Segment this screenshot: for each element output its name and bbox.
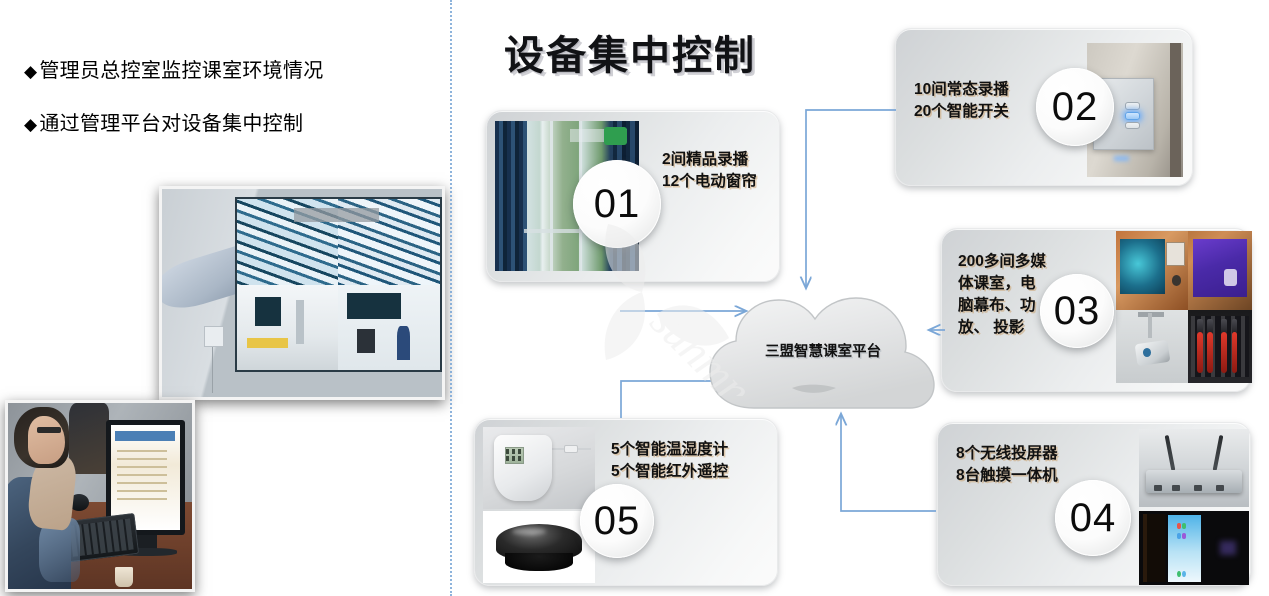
multimedia-classroom-equipment-photos bbox=[1116, 231, 1252, 383]
amplifier-cables-photo bbox=[1188, 310, 1252, 383]
card-01-label: 2间精品录播 12个电动窗帘 bbox=[662, 149, 757, 193]
card-04-number-badge: 04 bbox=[1055, 480, 1131, 556]
card-02-label: 10间常态录播 20个智能开关 bbox=[914, 79, 1009, 123]
card-01-number-badge: 01 bbox=[573, 160, 661, 248]
card-04-label: 8个无线投屏器 8台触摸一体机 bbox=[956, 443, 1058, 487]
antenna-right bbox=[1213, 435, 1224, 471]
projection-screen-photo bbox=[1188, 231, 1252, 310]
card-03-number-badge: 03 bbox=[1040, 274, 1114, 348]
temperature-humidity-sensor-photo bbox=[483, 427, 595, 509]
thermostat-body bbox=[494, 435, 552, 501]
card-03-label: 200多间多媒 体课室，电 脑幕布、功 放、 投影 bbox=[958, 251, 1046, 339]
slide-canvas: ◆管理员总控室监控课室环境情况 ◆通过管理平台对设备集中控制 bbox=[0, 0, 1269, 596]
video-logo-icon bbox=[604, 127, 627, 145]
teacher-console-photo bbox=[1116, 231, 1188, 310]
card-05-label: 5个智能温湿度计 5个智能红外遥控 bbox=[611, 439, 728, 483]
ceiling-projector-photo bbox=[1116, 310, 1188, 383]
connector-card02-to-hub bbox=[806, 110, 896, 287]
card-05-number-badge: 05 bbox=[580, 484, 654, 558]
switch-key-3 bbox=[1125, 122, 1140, 130]
card-02-number-badge: 02 bbox=[1036, 68, 1114, 146]
connector-card04-to-hub bbox=[841, 415, 936, 511]
hub-label: 三盟智慧课室平台 bbox=[700, 340, 946, 361]
touch-all-in-one-machine-photo bbox=[1139, 511, 1249, 585]
sensor-probe bbox=[564, 445, 579, 453]
switch-key-1 bbox=[1125, 102, 1140, 110]
antenna-left bbox=[1164, 435, 1175, 471]
infrared-remote-controller-photo bbox=[483, 511, 595, 583]
switch-key-2-active bbox=[1125, 112, 1140, 120]
wireless-screen-caster-photo bbox=[1139, 429, 1249, 507]
